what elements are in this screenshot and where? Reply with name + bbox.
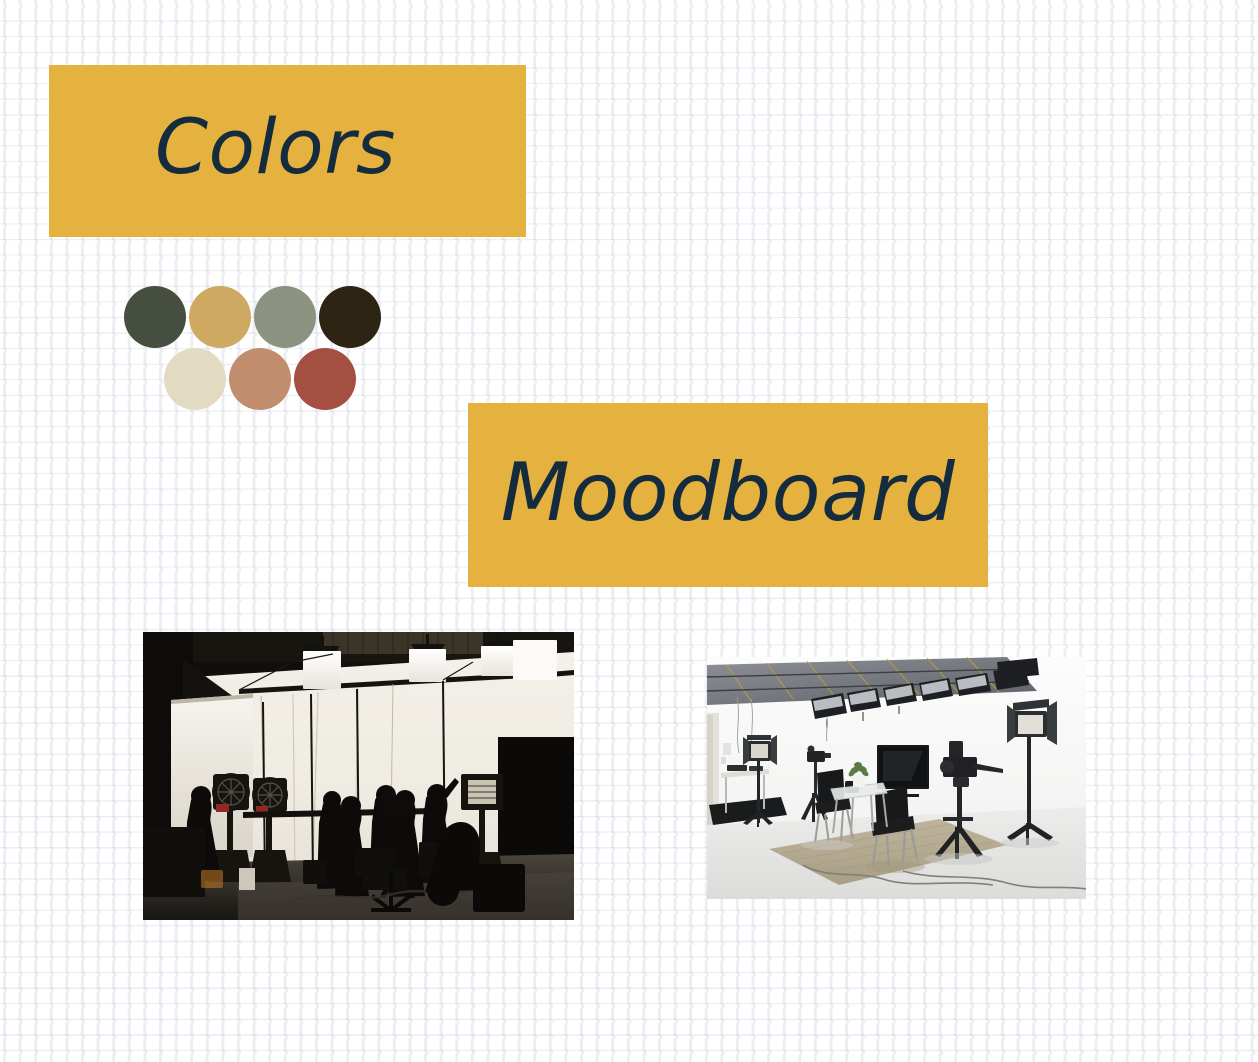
- color-palette: [124, 286, 404, 414]
- color-swatch-sage-green: [254, 286, 316, 348]
- color-swatch-cream: [164, 348, 226, 410]
- moodboard-banner-label: Moodboard: [501, 453, 956, 533]
- studio-interview-illustration: [707, 657, 1086, 899]
- palette-row-bottom: [164, 348, 359, 410]
- studio-crew-photo: [143, 632, 574, 920]
- color-swatch-brick-red: [294, 348, 356, 410]
- color-swatch-golden-tan: [189, 286, 251, 348]
- moodboard-banner: Moodboard: [468, 403, 988, 587]
- moodboard-canvas: Colors Moodboard: [0, 0, 1258, 1062]
- color-swatch-dark-olive-green: [124, 286, 186, 348]
- studio-crew-illustration: [143, 632, 574, 920]
- colors-banner: Colors: [49, 65, 526, 237]
- color-swatch-terracotta: [229, 348, 291, 410]
- colors-banner-label: Colors: [155, 109, 396, 185]
- studio-interview-photo: [707, 657, 1086, 899]
- color-swatch-dark-brown: [319, 286, 381, 348]
- palette-row-top: [124, 286, 384, 348]
